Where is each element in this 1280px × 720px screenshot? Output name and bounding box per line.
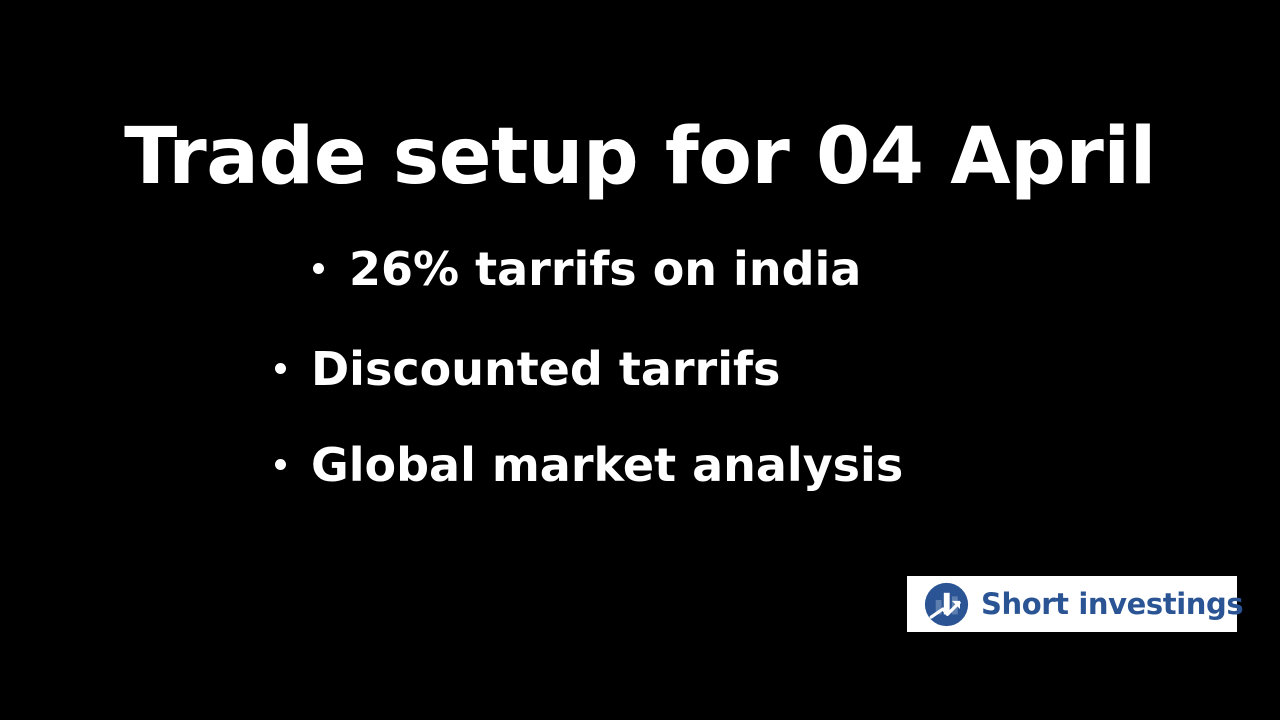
bullet-list: 26% tarrifs on india Discounted tarrifs … (0, 246, 1280, 538)
bar-chart-arrow-icon (924, 582, 969, 627)
list-item: Discounted tarrifs (0, 346, 1280, 392)
list-item-label: 26% tarrifs on india (349, 246, 861, 292)
list-item-label: Global market analysis (311, 442, 903, 488)
logo-badge: Short investings (907, 576, 1237, 632)
bullet-dot-icon (275, 363, 286, 374)
list-item: Global market analysis (0, 442, 1280, 488)
bullet-dot-icon (313, 263, 324, 274)
list-item: 26% tarrifs on india (0, 246, 1280, 292)
logo-wordmark: Short investings (981, 590, 1243, 619)
page-title: Trade setup for 04 April (0, 118, 1280, 196)
list-item-label: Discounted tarrifs (311, 346, 780, 392)
slide-canvas: Trade setup for 04 April 26% tarrifs on … (0, 0, 1280, 720)
bullet-dot-icon (275, 459, 286, 470)
